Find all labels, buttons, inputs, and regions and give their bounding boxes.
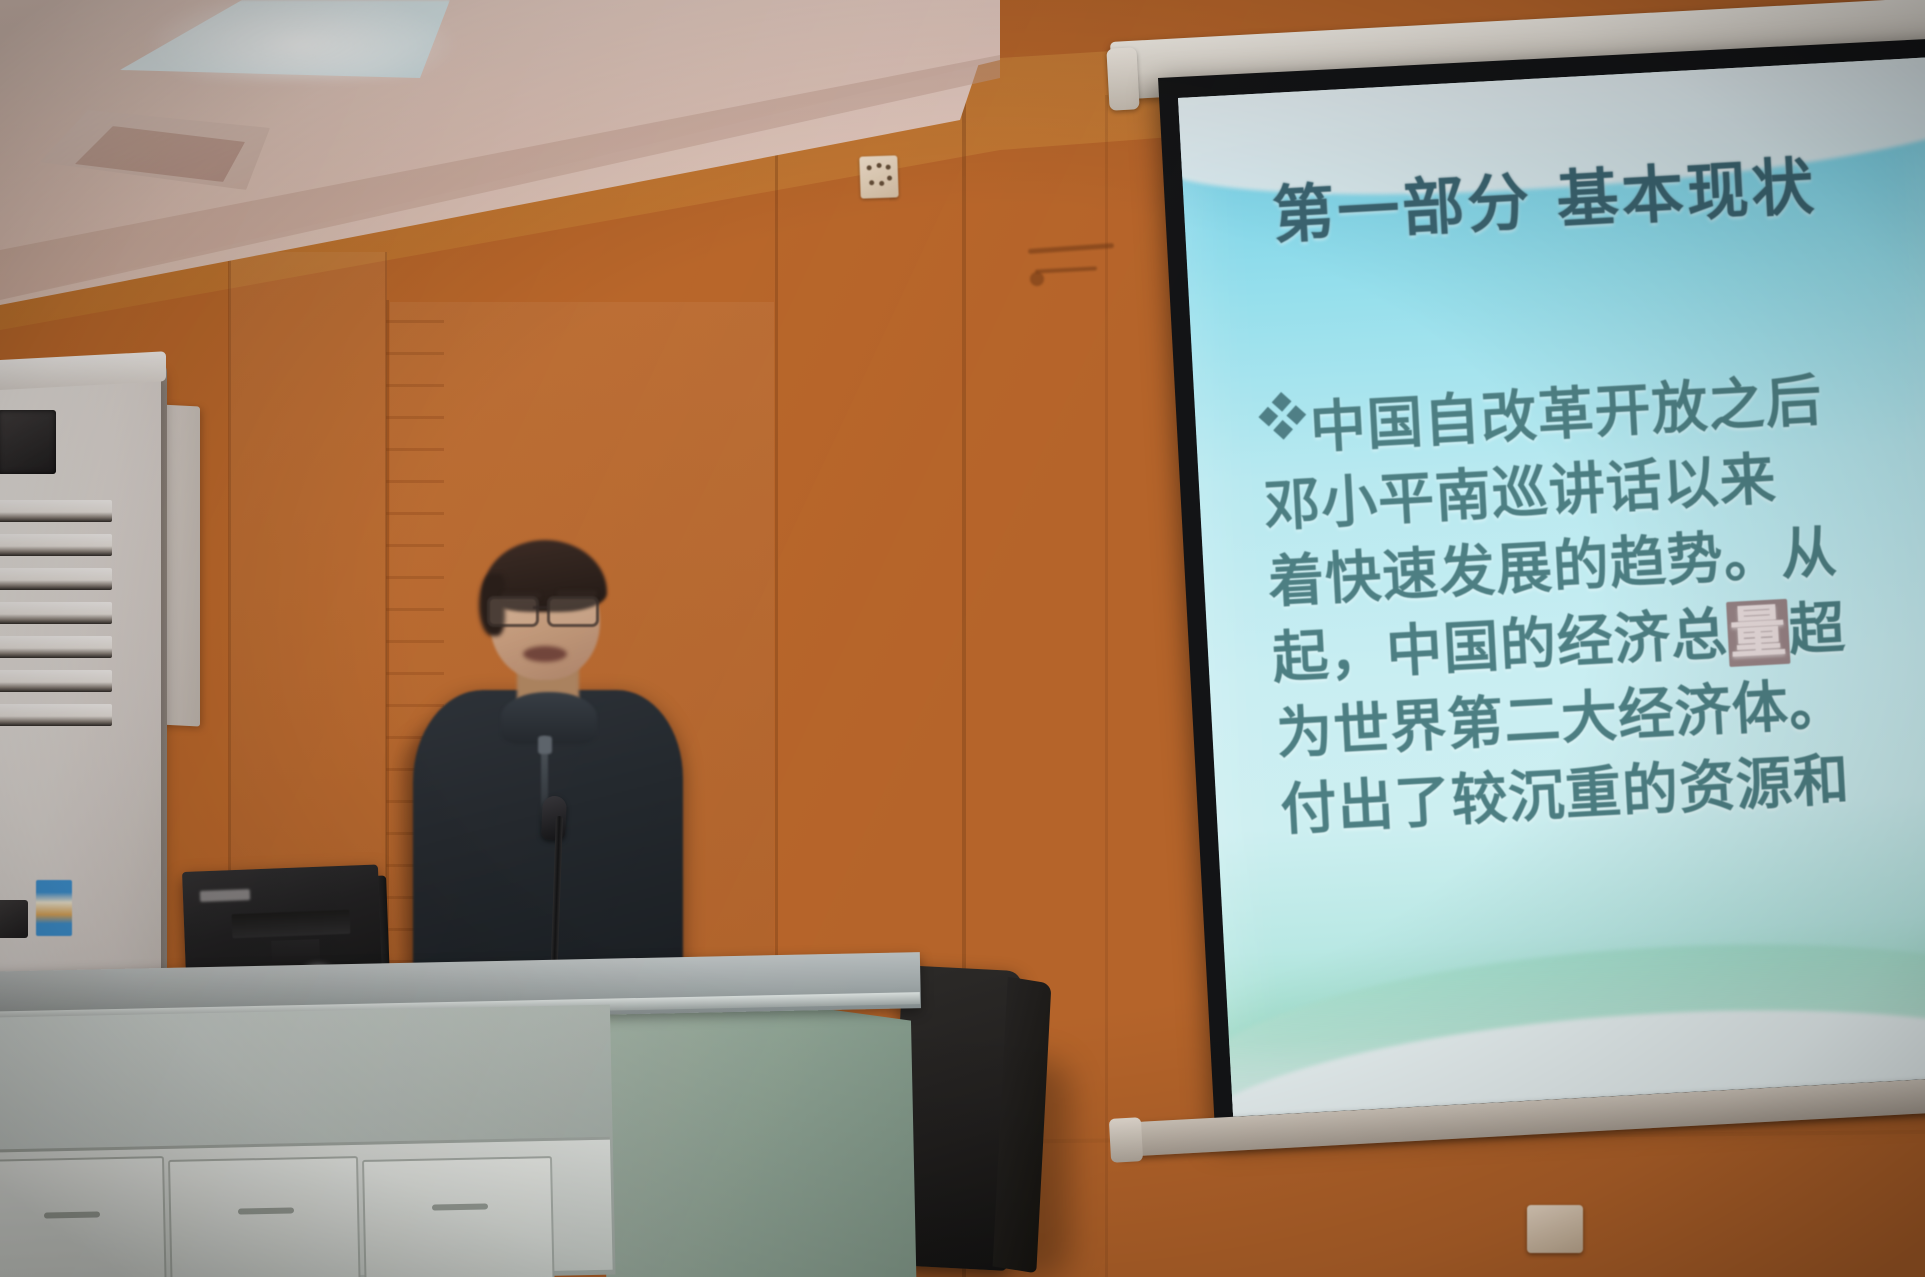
eyeglasses-icon bbox=[487, 596, 605, 622]
wall-scuff bbox=[1030, 272, 1044, 286]
presentation-room-photo: 第一部分 基本现状 中国自改革开放之后 邓小平南巡讲话以来 着快速发展的趋势。从… bbox=[0, 0, 1925, 1277]
lenovo-logo-icon bbox=[200, 889, 250, 902]
projection-screen-surface: 第一部分 基本现状 中国自改革开放之后 邓小平南巡讲话以来 着快速发展的趋势。从… bbox=[1178, 57, 1925, 1117]
wall-scuff bbox=[1028, 243, 1114, 254]
power-outlet-icon bbox=[859, 155, 898, 198]
power-outlet-icon bbox=[1527, 1205, 1583, 1253]
screen-bottom-endcap bbox=[1109, 1117, 1143, 1163]
slide-body: 中国自改革开放之后 邓小平南巡讲话以来 着快速发展的趋势。从 起，中国的经济总量… bbox=[1258, 353, 1925, 849]
cabinet-door[interactable] bbox=[362, 1156, 555, 1277]
diamond-bullet-icon bbox=[1258, 392, 1306, 440]
cabinet-handle[interactable] bbox=[44, 1211, 100, 1218]
wall-scuff bbox=[1035, 266, 1097, 273]
ac-vent-grille bbox=[0, 500, 112, 740]
podium-right-side bbox=[600, 978, 917, 1277]
screen-roller-endcap bbox=[1106, 47, 1139, 111]
microphone-head-icon bbox=[541, 795, 567, 840]
cabinet-handle[interactable] bbox=[238, 1207, 294, 1214]
ac-display-panel bbox=[0, 410, 56, 474]
monitor-rear-recess bbox=[232, 910, 351, 939]
presenter bbox=[395, 540, 695, 990]
ceiling-light-glow bbox=[140, 0, 460, 80]
wall-seam bbox=[1105, 95, 1108, 1277]
energy-efficiency-label-icon bbox=[36, 880, 72, 936]
cabinet-door[interactable] bbox=[168, 1156, 361, 1277]
ac-lower-vent bbox=[0, 900, 28, 938]
presenter-mouth bbox=[523, 646, 567, 662]
jacket-zipper-pull-icon bbox=[538, 736, 552, 754]
cabinet-handle[interactable] bbox=[432, 1203, 488, 1210]
